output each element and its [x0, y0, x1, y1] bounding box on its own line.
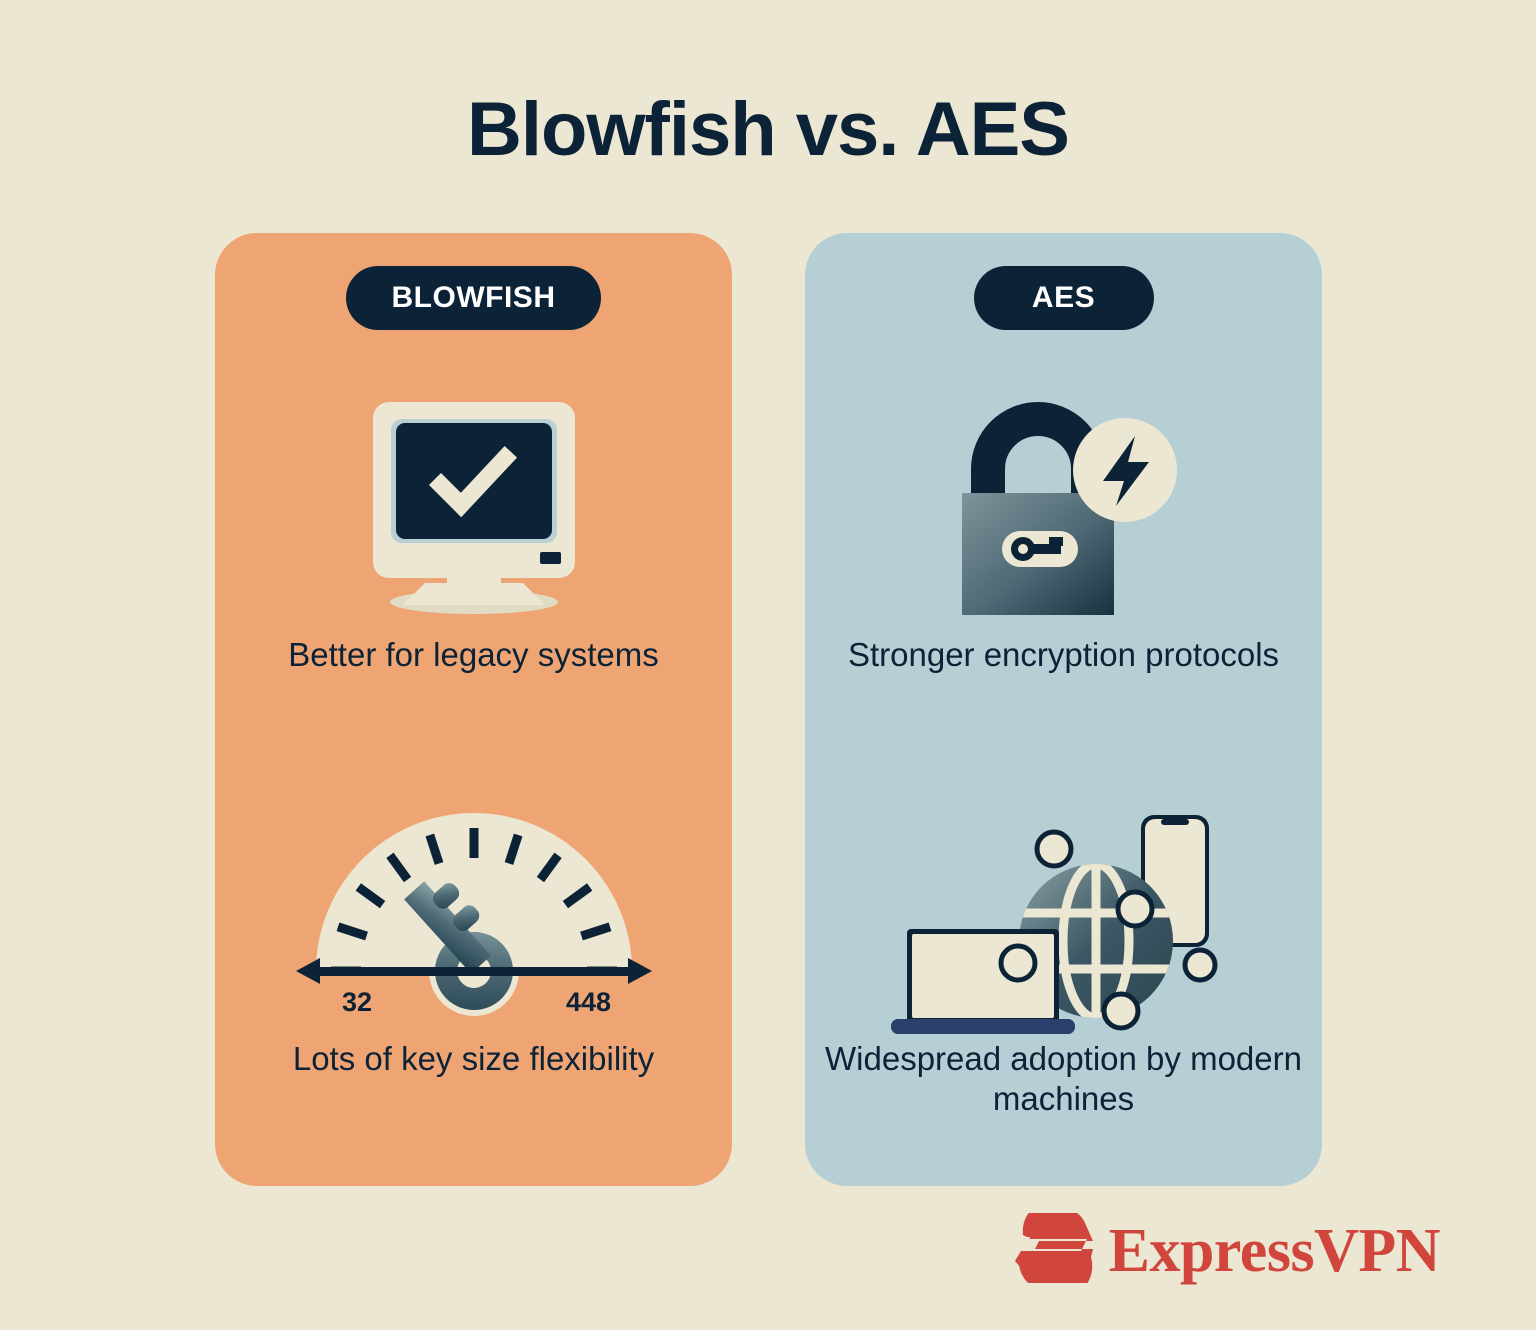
badge-blowfish: BLOWFISH: [346, 266, 602, 330]
caption-aes-top: Stronger encryption protocols: [805, 635, 1322, 675]
crt-monitor-checkmark-icon: [359, 393, 589, 628]
expressvpn-wordmark: ExpressVPN: [1109, 1220, 1440, 1282]
gauge-min-label: 32: [342, 987, 372, 1017]
caption-aes-bottom: Widespread adoption by modern machines: [805, 1039, 1322, 1120]
infographic-page: Blowfish vs. AES BLOWFISH Better for leg…: [0, 0, 1536, 1330]
card-aes: AES: [805, 233, 1322, 1186]
gauge-max-label: 448: [566, 987, 611, 1017]
page-title: Blowfish vs. AES: [0, 86, 1536, 173]
badge-aes: AES: [974, 266, 1154, 330]
caption-blowfish-top: Better for legacy systems: [215, 635, 732, 675]
expressvpn-e-mark-icon: [1013, 1213, 1095, 1288]
key-size-gauge-icon: 32 448: [294, 803, 654, 1023]
expressvpn-logo[interactable]: ExpressVPN: [1013, 1213, 1440, 1288]
padlock-lightning-icon: [940, 393, 1188, 628]
card-blowfish: BLOWFISH Better for legacy systems: [215, 233, 732, 1186]
globe-devices-network-icon: [889, 803, 1239, 1058]
caption-blowfish-bottom: Lots of key size flexibility: [215, 1039, 732, 1079]
